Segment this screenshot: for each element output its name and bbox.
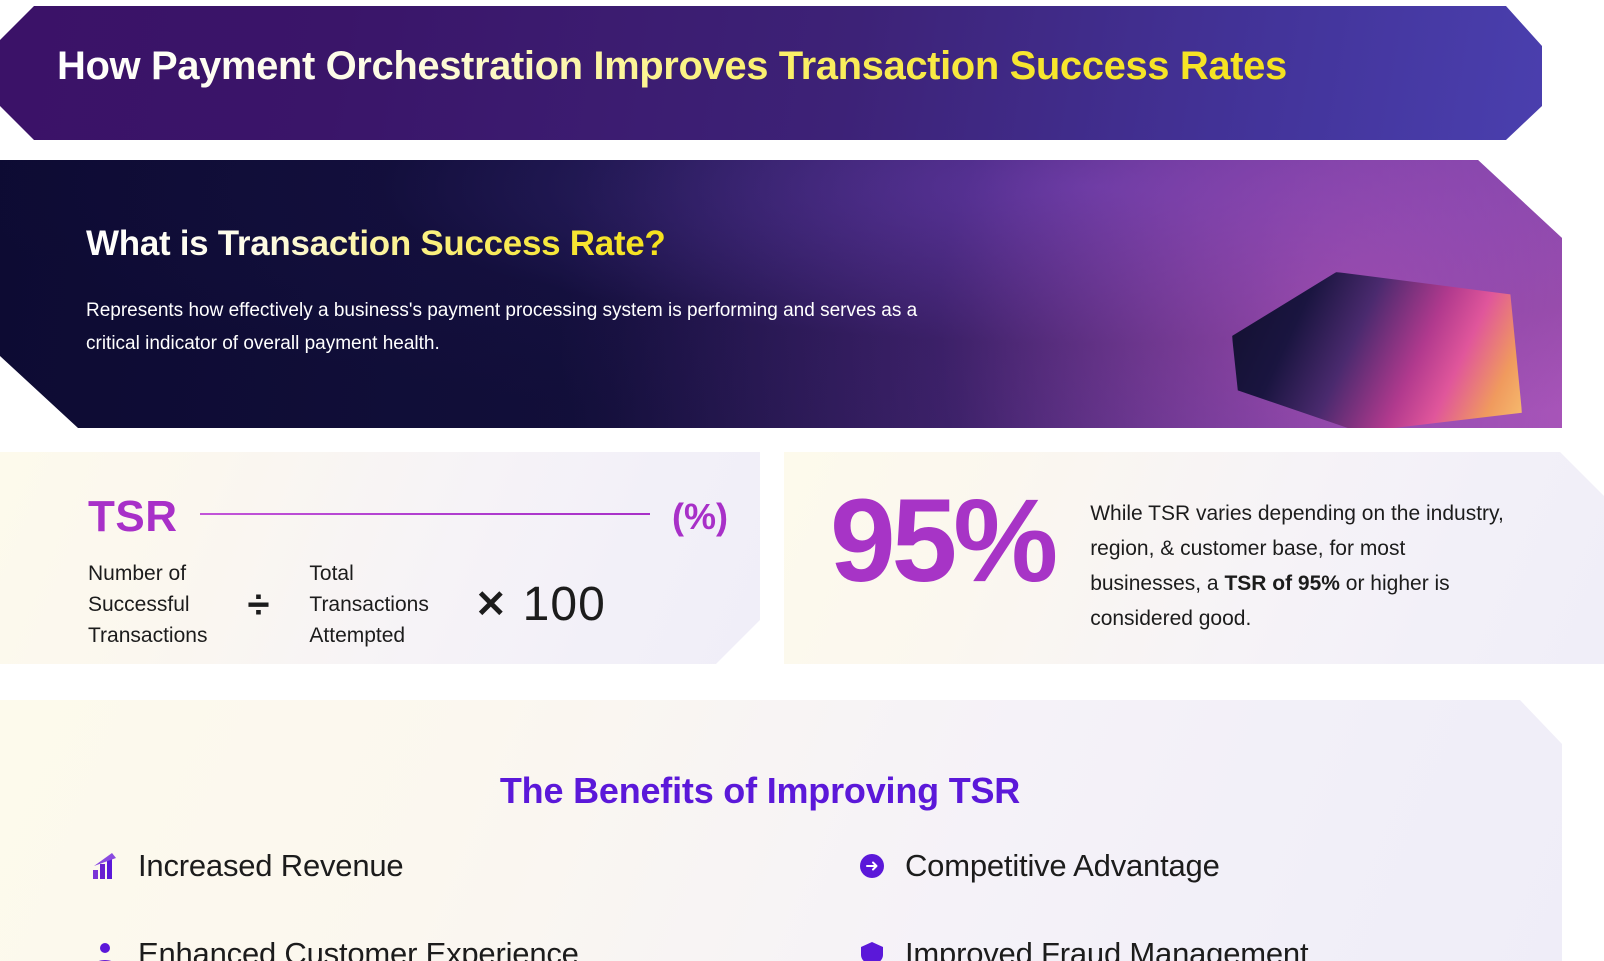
benchmark-text-bold: TSR of 95% [1224, 572, 1340, 595]
benchmark-content: 95% While TSR varies depending on the in… [830, 482, 1520, 636]
benchmark-description: While TSR varies depending on the indust… [1090, 496, 1520, 636]
shield-icon [855, 937, 889, 961]
hero-description: Represents how effectively a business's … [86, 294, 946, 360]
page-title: How Payment Orchestration Improves Trans… [57, 44, 1287, 89]
benefit-item-competitive-advantage[interactable]: Competitive Advantage [855, 848, 1308, 884]
benefit-item-improved-fraud-management[interactable]: Improved Fraud Management [855, 936, 1308, 961]
bar-chart-growth-icon [88, 849, 122, 883]
tsr-formula-card: TSR (%) Number of Successful Transaction… [0, 452, 760, 664]
user-star-icon [88, 937, 122, 961]
circle-arrow-right-icon [855, 849, 889, 883]
divider-line [200, 513, 651, 515]
benefit-label: Improved Fraud Management [905, 936, 1308, 961]
benefit-label: Enhanced Customer Experience [138, 936, 579, 961]
tsr-formula-header: TSR (%) [88, 492, 728, 542]
benefits-column-right: Competitive Advantage Improved Fraud Man… [855, 848, 1308, 961]
percent-label: (%) [672, 496, 728, 538]
hero-heading: What is Transaction Success Rate? [86, 224, 665, 264]
benefit-item-enhanced-customer-experience[interactable]: Enhanced Customer Experience [88, 936, 579, 961]
divide-symbol-icon: ÷ [247, 585, 269, 625]
infographic-page: How Payment Orchestration Improves Trans… [0, 0, 1604, 961]
benefits-title: The Benefits of Improving TSR [0, 770, 1520, 812]
tsr-equation: Number of Successful Transactions ÷ Tota… [88, 558, 606, 651]
equation-multiplier: 100 [523, 577, 606, 632]
benefit-label: Competitive Advantage [905, 848, 1220, 884]
benefit-item-increased-revenue[interactable]: Increased Revenue [88, 848, 579, 884]
tsr-benchmark-card: 95% While TSR varies depending on the in… [784, 452, 1604, 664]
multiply-symbol-icon: ✕ [475, 582, 507, 627]
benefits-column-left: Increased Revenue Enhanced Customer Expe… [88, 848, 579, 961]
equation-denominator: Total Transactions Attempted [309, 558, 428, 651]
benchmark-value: 95% [830, 482, 1054, 600]
tsr-label: TSR [88, 492, 178, 542]
benefit-label: Increased Revenue [138, 848, 403, 884]
equation-numerator: Number of Successful Transactions [88, 558, 207, 651]
abstract-polygon-gradient-icon [1232, 272, 1522, 432]
